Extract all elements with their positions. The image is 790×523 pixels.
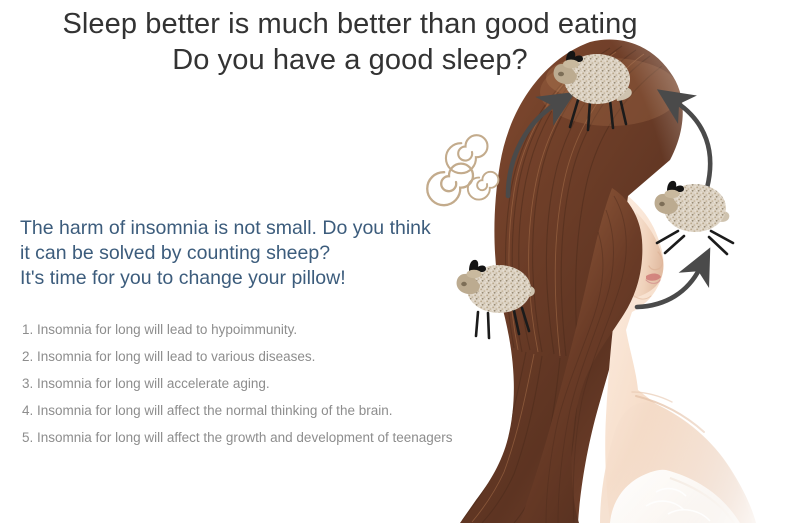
list-item-number: 3. xyxy=(22,376,33,391)
list-item: 1. Insomnia for long will lead to hypoim… xyxy=(22,316,453,343)
list-item-label: Insomnia for long will accelerate aging. xyxy=(37,376,270,391)
list-item-number: 4. xyxy=(22,403,33,418)
list-item-label: Insomnia for long will lead to various d… xyxy=(37,349,315,364)
list-item: 2. Insomnia for long will lead to variou… xyxy=(22,343,453,370)
lead-line-1: The harm of insomnia is not small. Do yo… xyxy=(20,216,431,241)
lead-line-2: it can be solved by counting sheep? xyxy=(20,241,431,266)
page-title: Sleep better is much better than good ea… xyxy=(0,6,700,78)
lead-paragraph: The harm of insomnia is not small. Do yo… xyxy=(20,216,431,291)
headline-line-2: Do you have a good sleep? xyxy=(0,42,700,78)
insomnia-effects-list: 1. Insomnia for long will lead to hypoim… xyxy=(22,316,453,451)
list-item-number: 5. xyxy=(22,430,33,445)
list-item-label: Insomnia for long will affect the normal… xyxy=(37,403,392,418)
list-item-label: Insomnia for long will affect the growth… xyxy=(37,430,453,445)
list-item: 3. Insomnia for long will accelerate agi… xyxy=(22,370,453,397)
list-item: 4. Insomnia for long will affect the nor… xyxy=(22,397,453,424)
poster-canvas: Sleep better is much better than good ea… xyxy=(0,0,790,523)
list-item-number: 1. xyxy=(22,322,33,337)
list-item-number: 2. xyxy=(22,349,33,364)
woman-photo xyxy=(460,0,790,523)
list-item-label: Insomnia for long will lead to hypoimmun… xyxy=(37,322,297,337)
headline-line-1: Sleep better is much better than good ea… xyxy=(0,6,700,42)
list-item: 5. Insomnia for long will affect the gro… xyxy=(22,424,453,451)
lead-line-3: It's time for you to change your pillow! xyxy=(20,266,431,291)
